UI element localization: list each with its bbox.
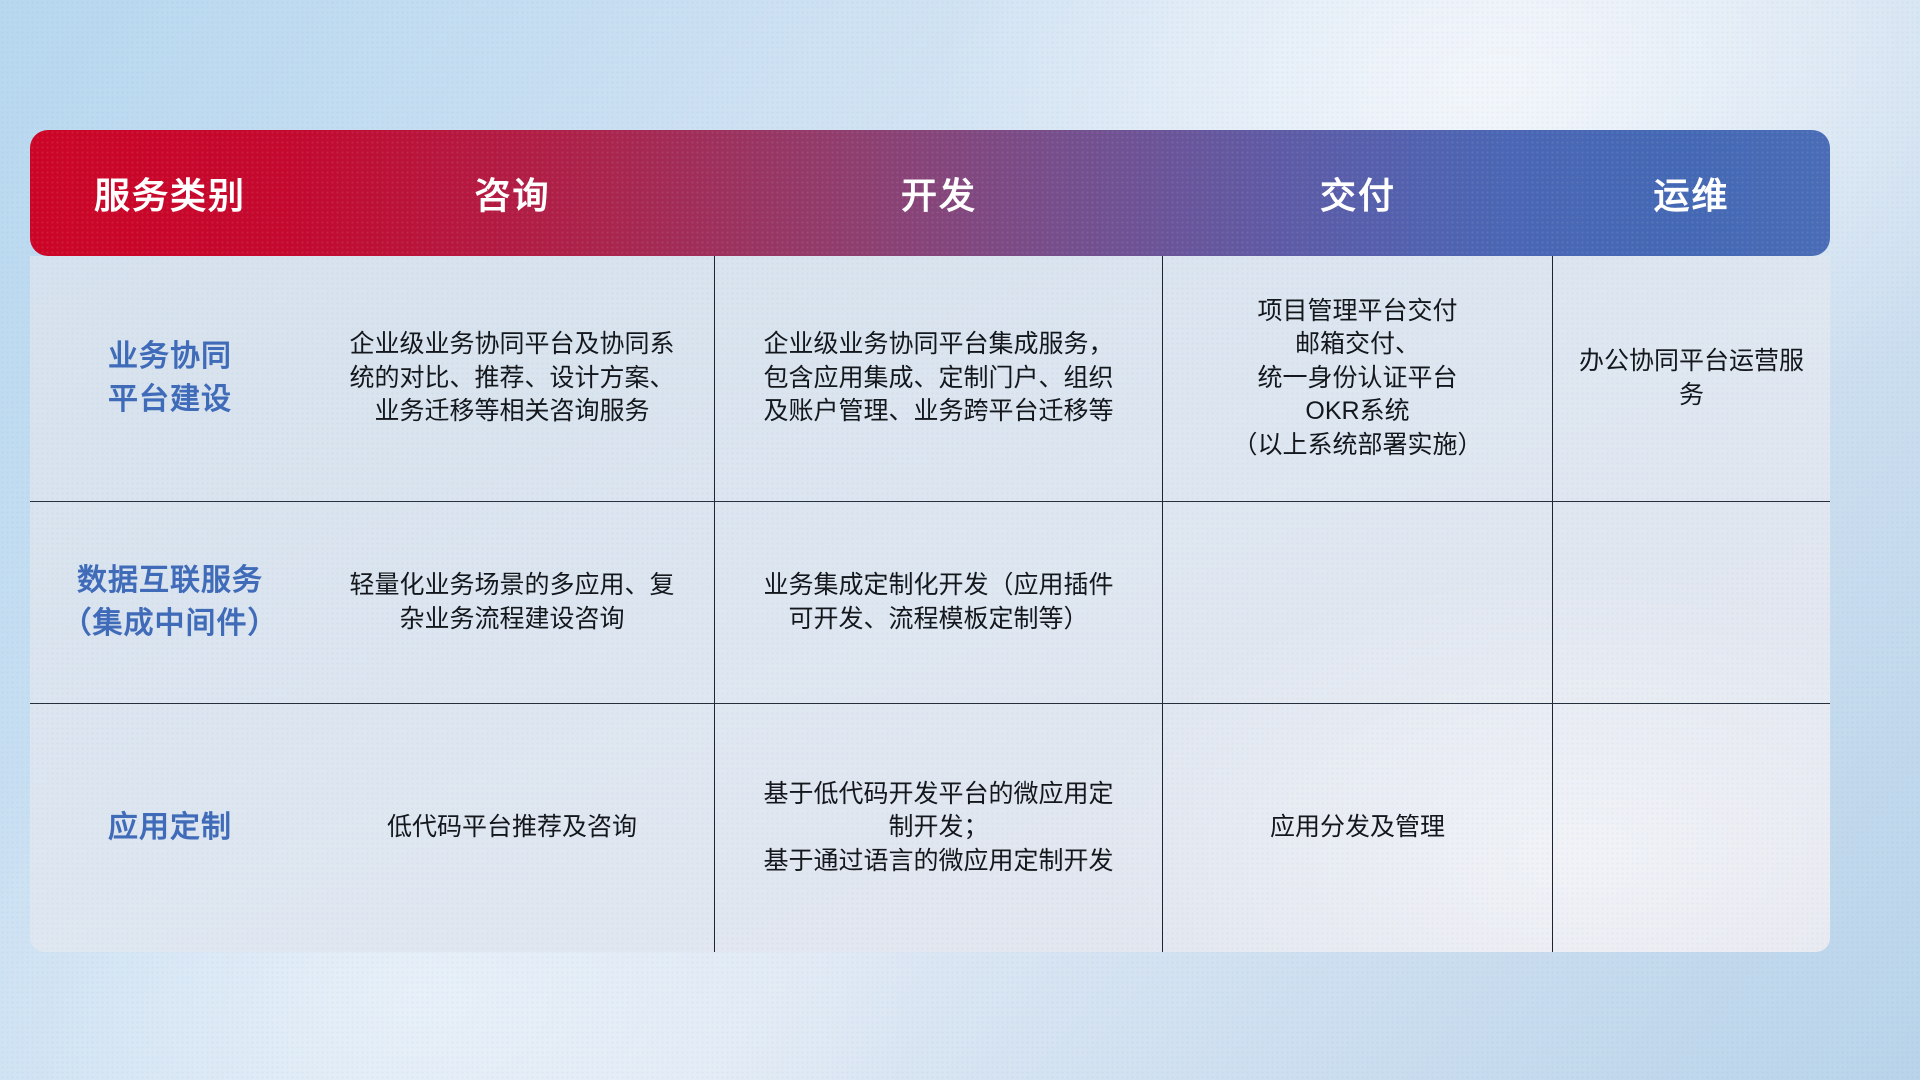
cell-operations bbox=[1553, 502, 1830, 703]
column-header-consulting: 咨询 bbox=[310, 130, 715, 256]
table-body: 业务协同 平台建设 企业级业务协同平台及协同系 统的对比、推荐、设计方案、 业务… bbox=[30, 256, 1830, 952]
cell-development: 企业级业务协同平台集成服务， 包含应用集成、定制门户、组织 及账户管理、业务跨平… bbox=[715, 256, 1163, 501]
table-row: 数据互联服务 （集成中间件） 轻量化业务场景的多应用、复 杂业务流程建设咨询 业… bbox=[30, 502, 1830, 704]
cell-development: 基于低代码开发平台的微应用定 制开发； 基于通过语言的微应用定制开发 bbox=[715, 704, 1163, 952]
cell-development: 业务集成定制化开发（应用插件 可开发、流程模板定制等） bbox=[715, 502, 1163, 703]
table-header-row: 服务类别 咨询 开发 交付 运维 bbox=[30, 130, 1830, 256]
column-header-development: 开发 bbox=[715, 130, 1163, 256]
cell-operations: 办公协同平台运营服务 bbox=[1553, 256, 1830, 501]
row-category-label: 业务协同 平台建设 bbox=[30, 256, 310, 501]
cell-consulting: 企业级业务协同平台及协同系 统的对比、推荐、设计方案、 业务迁移等相关咨询服务 bbox=[310, 256, 715, 501]
cell-consulting: 低代码平台推荐及咨询 bbox=[310, 704, 715, 952]
column-header-category: 服务类别 bbox=[30, 130, 310, 256]
cell-consulting: 轻量化业务场景的多应用、复 杂业务流程建设咨询 bbox=[310, 502, 715, 703]
row-category-label: 应用定制 bbox=[30, 704, 310, 952]
cell-delivery: 应用分发及管理 bbox=[1163, 704, 1553, 952]
row-category-label: 数据互联服务 （集成中间件） bbox=[30, 502, 310, 703]
cell-delivery bbox=[1163, 502, 1553, 703]
cell-delivery: 项目管理平台交付 邮箱交付、 统一身份认证平台 OKR系统 （以上系统部署实施） bbox=[1163, 256, 1553, 501]
column-header-delivery: 交付 bbox=[1163, 130, 1553, 256]
service-matrix-table: 服务类别 咨询 开发 交付 运维 业务协同 平台建设 企业级业务协同平台及协同系… bbox=[30, 130, 1830, 952]
table-row: 业务协同 平台建设 企业级业务协同平台及协同系 统的对比、推荐、设计方案、 业务… bbox=[30, 256, 1830, 502]
table-row: 应用定制 低代码平台推荐及咨询 基于低代码开发平台的微应用定 制开发； 基于通过… bbox=[30, 704, 1830, 952]
column-header-operations: 运维 bbox=[1553, 130, 1830, 256]
cell-operations bbox=[1553, 704, 1830, 952]
